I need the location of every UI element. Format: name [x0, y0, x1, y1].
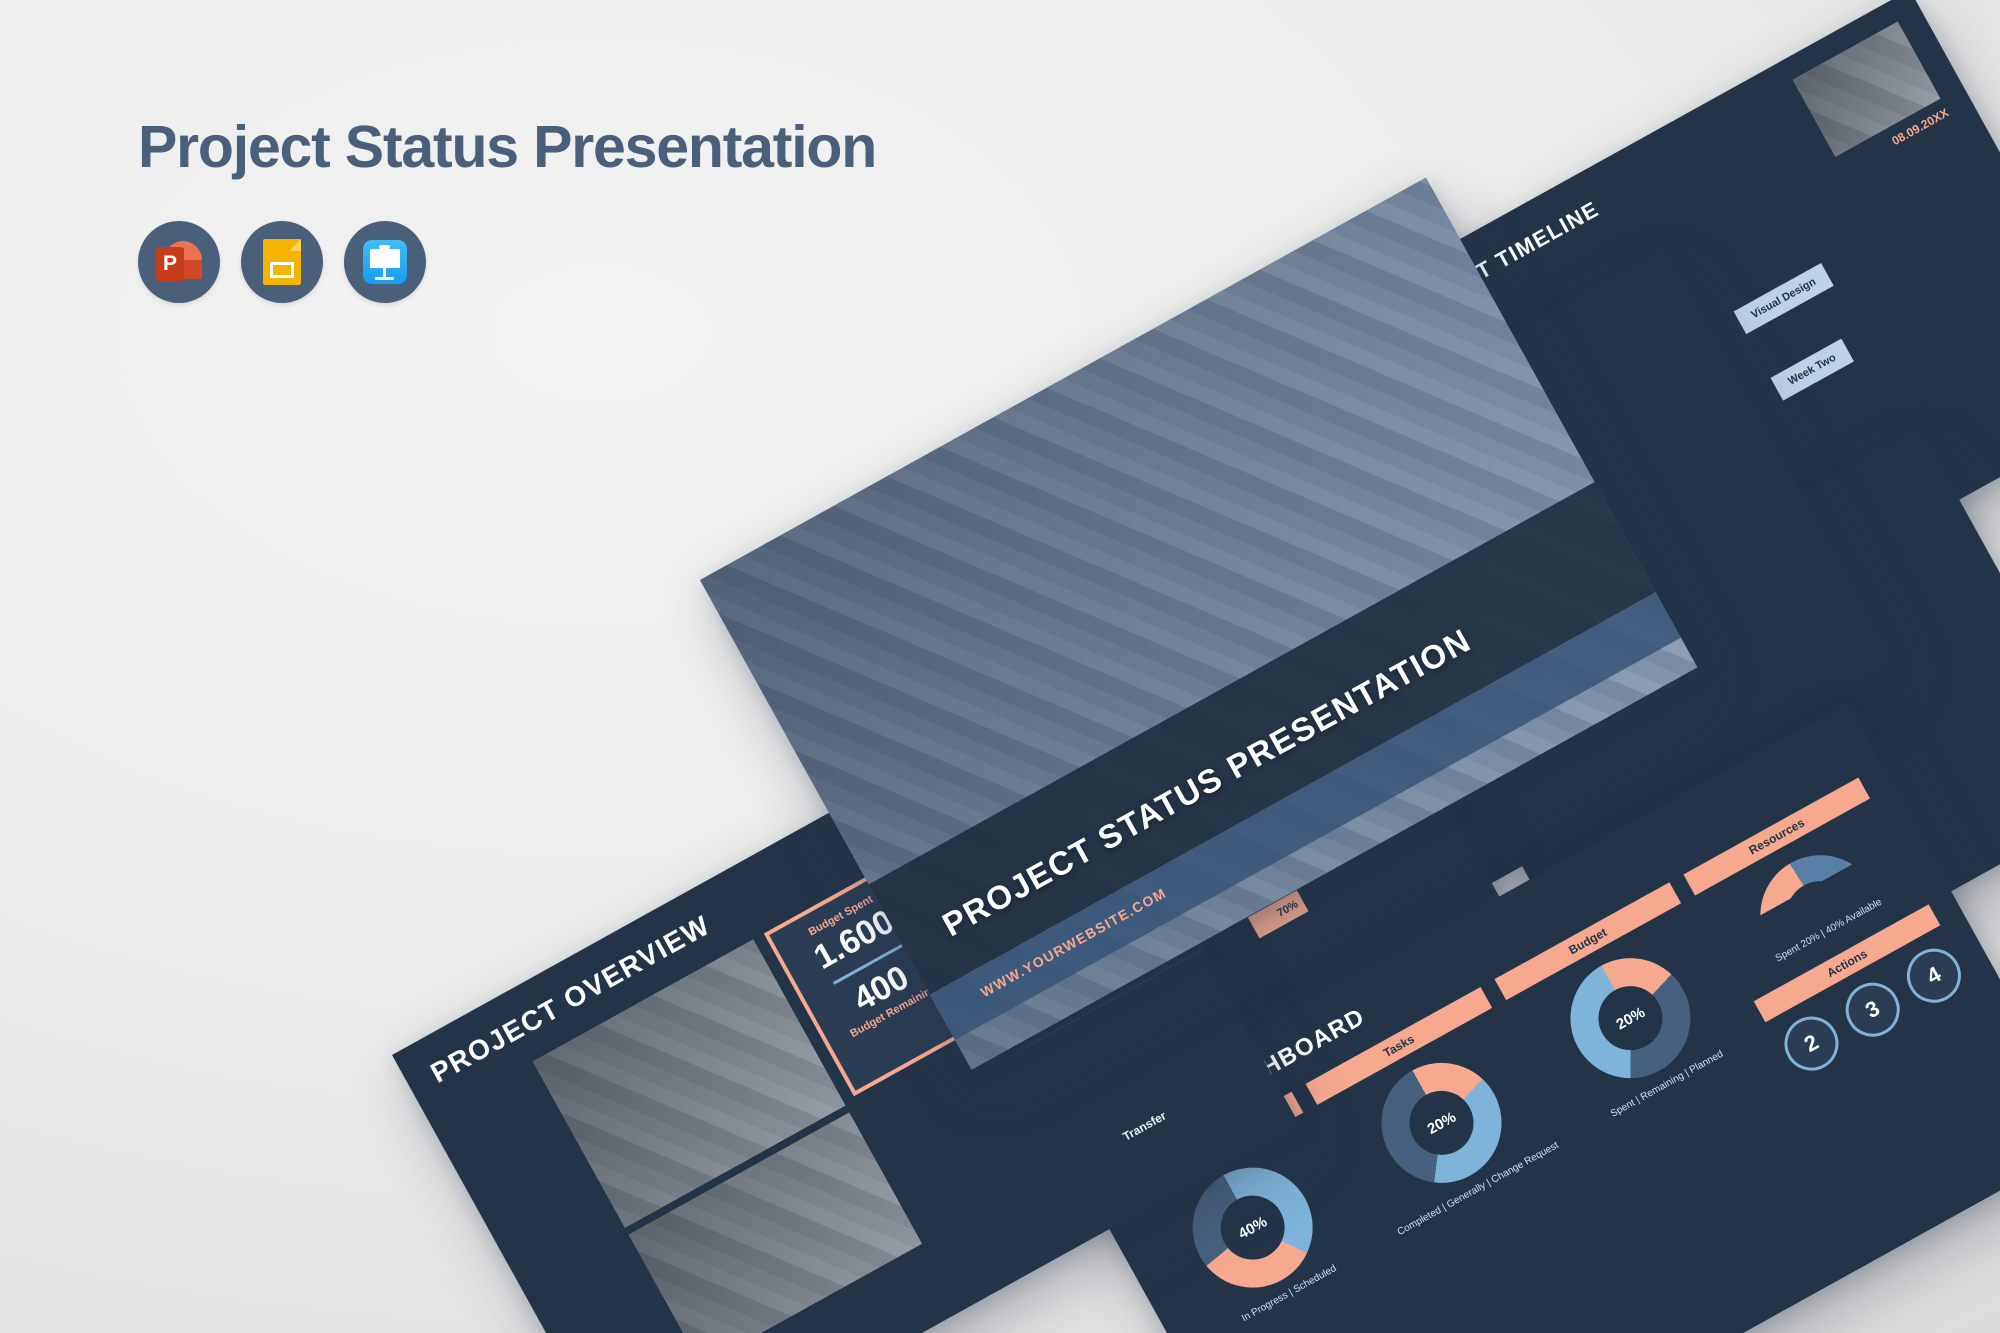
- action-count: 4: [1897, 939, 1970, 1012]
- keynote-glyph: [363, 240, 407, 284]
- keynote-base: [375, 277, 394, 280]
- transfer-label: Transfer: [1120, 1108, 1168, 1143]
- page-header: Project Status Presentation P: [138, 118, 1138, 303]
- app-icon-row: P: [138, 221, 1138, 303]
- keynote-screen: [370, 249, 400, 268]
- timeline-chip-week-two[interactable]: Week Two: [1770, 339, 1853, 401]
- timeline-chip-visual-design[interactable]: Visual Design: [1734, 263, 1834, 334]
- slides-window: [270, 262, 294, 278]
- google-slides-icon[interactable]: [241, 221, 323, 303]
- powerpoint-letter: P: [156, 247, 184, 281]
- powerpoint-glyph: P: [156, 239, 202, 285]
- page-title: Project Status Presentation: [138, 118, 1138, 177]
- action-count: 3: [1836, 973, 1909, 1046]
- google-slides-glyph: [263, 239, 301, 285]
- timeline-thumbnail: [1793, 22, 1941, 157]
- powerpoint-icon[interactable]: P: [138, 221, 220, 303]
- slides-corner-fold: [289, 239, 301, 251]
- action-count: 2: [1775, 1007, 1848, 1080]
- keynote-icon[interactable]: [344, 221, 426, 303]
